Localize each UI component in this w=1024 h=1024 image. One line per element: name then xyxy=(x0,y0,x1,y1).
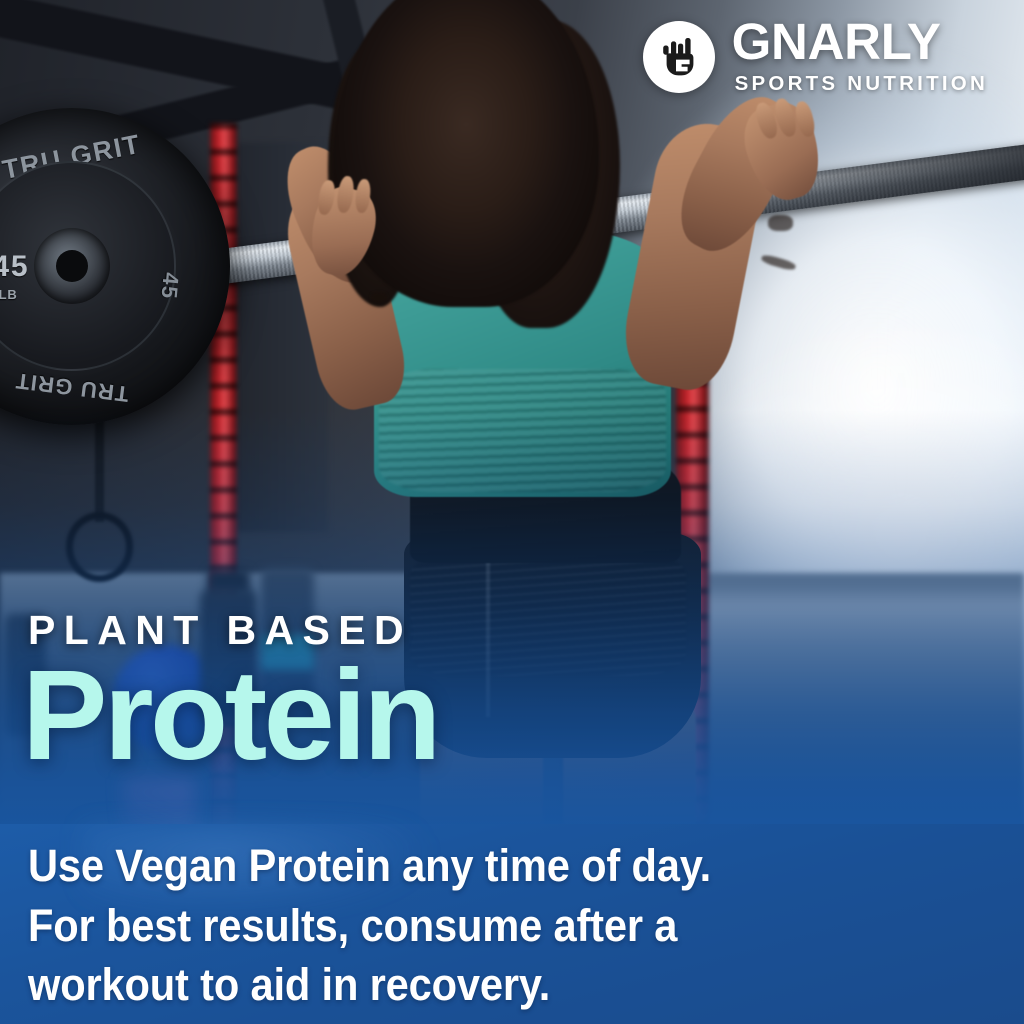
rock-horns-hand-g-icon xyxy=(643,21,715,93)
brand-tagline: SPORTS NUTRITION xyxy=(732,72,988,96)
athlete-shirt-folds xyxy=(379,369,666,492)
promo-graphic: TRU GRIT 45 LB 45 TRU GRIT xyxy=(0,0,1024,1024)
brand-logo-lockup[interactable]: GNARLY SPORTS NUTRITION xyxy=(643,18,988,96)
athlete-tattoo-star xyxy=(768,215,793,231)
athlete-tattoo-script xyxy=(760,253,796,271)
body-copy-line: Use Vegan Protein any time of day. xyxy=(28,836,903,896)
headline-block: PLANT BASED Protein xyxy=(28,610,438,775)
headline-wordmark: Protein xyxy=(22,657,438,775)
athlete-shorts-seam xyxy=(486,553,490,717)
brand-name: GNARLY xyxy=(732,18,941,67)
body-copy-block: Use Vegan Protein any time of day. For b… xyxy=(28,836,984,1015)
body-copy-line: workout to aid in recovery. xyxy=(28,955,903,1015)
body-copy-line: For best results, consume after a xyxy=(28,896,903,956)
brand-logo-text: GNARLY SPORTS NUTRITION xyxy=(732,18,988,96)
athlete-shorts-folds xyxy=(410,553,686,676)
athlete-hair xyxy=(333,0,599,307)
athlete-tattoo-forearm xyxy=(371,292,387,303)
